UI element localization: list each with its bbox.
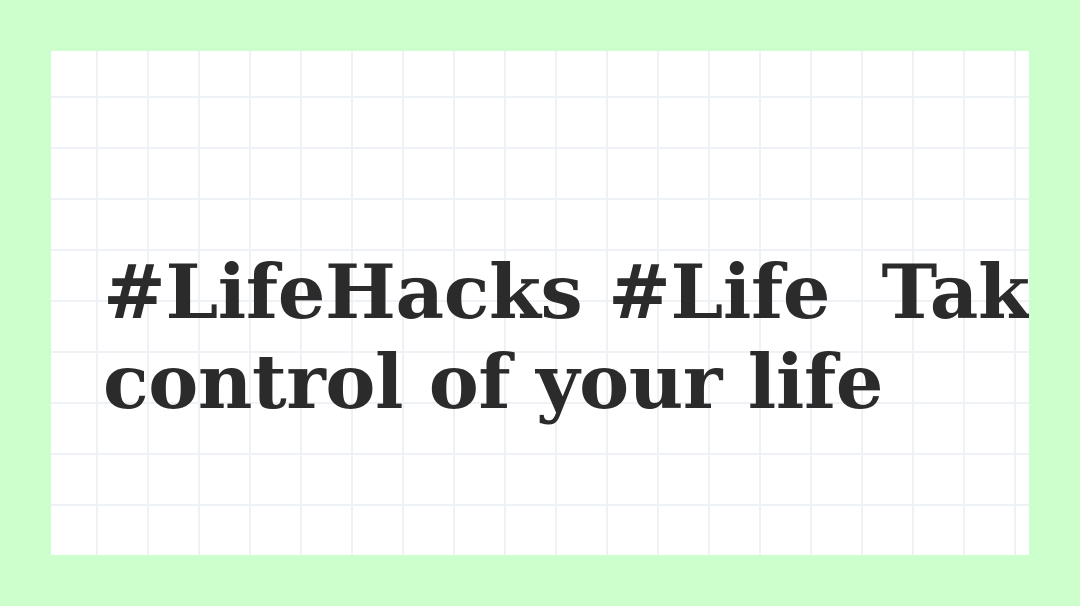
- headline-text-block: #LifeHacks #Life Taking control of your …: [103, 247, 983, 427]
- quote-card-canvas: #LifeHacks #Life Taking control of your …: [0, 0, 1080, 606]
- headline-line-2: control of your life: [103, 337, 983, 427]
- headline-line-1: #LifeHacks #Life Taking: [103, 247, 983, 337]
- white-content-panel: #LifeHacks #Life Taking control of your …: [51, 51, 1029, 555]
